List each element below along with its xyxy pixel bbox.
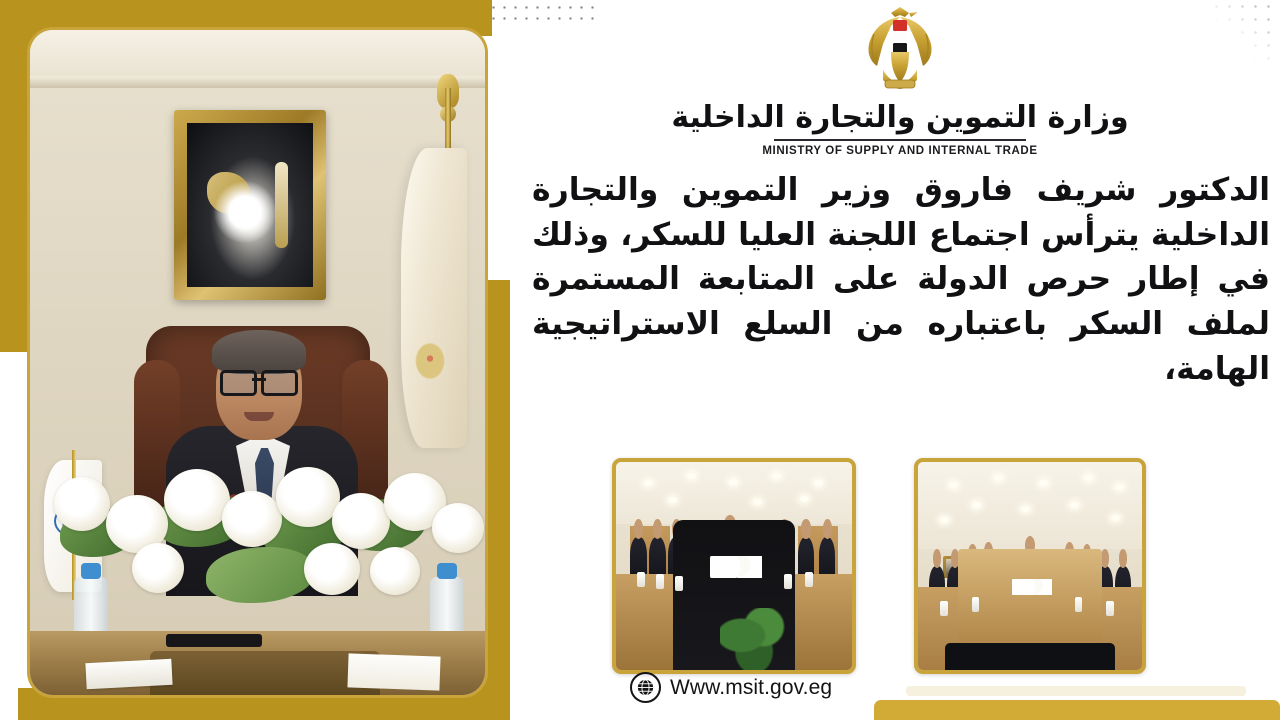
headline-text: الدكتور شريف فاروق وزير التموين والتجارة… <box>532 168 1270 392</box>
gold-accent-bar-shadow <box>906 686 1246 696</box>
ministry-name-english: MINISTRY OF SUPPLY AND INTERNAL TRADE <box>520 145 1280 157</box>
flag-emblem <box>405 330 455 392</box>
eyeglasses-bridge <box>252 378 266 381</box>
table-center-2 <box>958 549 1101 641</box>
eagle-of-saladin-emblem-icon <box>861 4 939 99</box>
ministry-flag-cloth <box>401 148 467 448</box>
logo-divider <box>774 139 1026 141</box>
meeting-scene-1 <box>616 462 852 670</box>
floor-plant-1 <box>720 608 791 670</box>
thumbnail-row <box>612 458 1242 670</box>
desk-papers-left <box>85 659 172 689</box>
meeting-scene-2 <box>918 462 1142 670</box>
desk-papers-right <box>347 653 440 690</box>
minister-at-desk-photo <box>27 27 488 698</box>
foreground-monitor-2 <box>945 643 1115 670</box>
gold-accent-bar <box>874 700 1280 720</box>
artwork-glare <box>214 181 276 243</box>
minister-hair <box>212 330 306 374</box>
artwork-pillar <box>275 162 288 247</box>
meeting-room-photo-2 <box>914 458 1146 674</box>
table-flowers-1 <box>710 556 762 579</box>
website-url[interactable]: Www.msit.gov.eg <box>670 676 832 700</box>
meeting-room-photo-1 <box>612 458 856 674</box>
desk-nameplate <box>166 634 262 647</box>
minister-mouth <box>244 412 274 421</box>
announcement-card: وزارة التموين والتجارة الداخلية MINISTRY… <box>0 0 1280 720</box>
framed-calligraphy-artwork <box>174 110 326 300</box>
room-ceiling <box>30 30 485 78</box>
desk-front-panel <box>150 651 380 695</box>
table-flowers-2 <box>1012 579 1052 596</box>
artwork-canvas <box>187 123 313 287</box>
content-column: وزارة التموين والتجارة الداخلية MINISTRY… <box>520 0 1280 720</box>
globe-icon <box>630 672 661 703</box>
hero-photo-scene <box>30 30 485 695</box>
ministry-logo-block: وزارة التموين والتجارة الداخلية MINISTRY… <box>520 4 1280 157</box>
wall-cornice <box>30 76 485 88</box>
website-line[interactable]: Www.msit.gov.eg <box>630 672 832 703</box>
ministry-name-arabic: وزارة التموين والتجارة الداخلية <box>520 101 1280 134</box>
